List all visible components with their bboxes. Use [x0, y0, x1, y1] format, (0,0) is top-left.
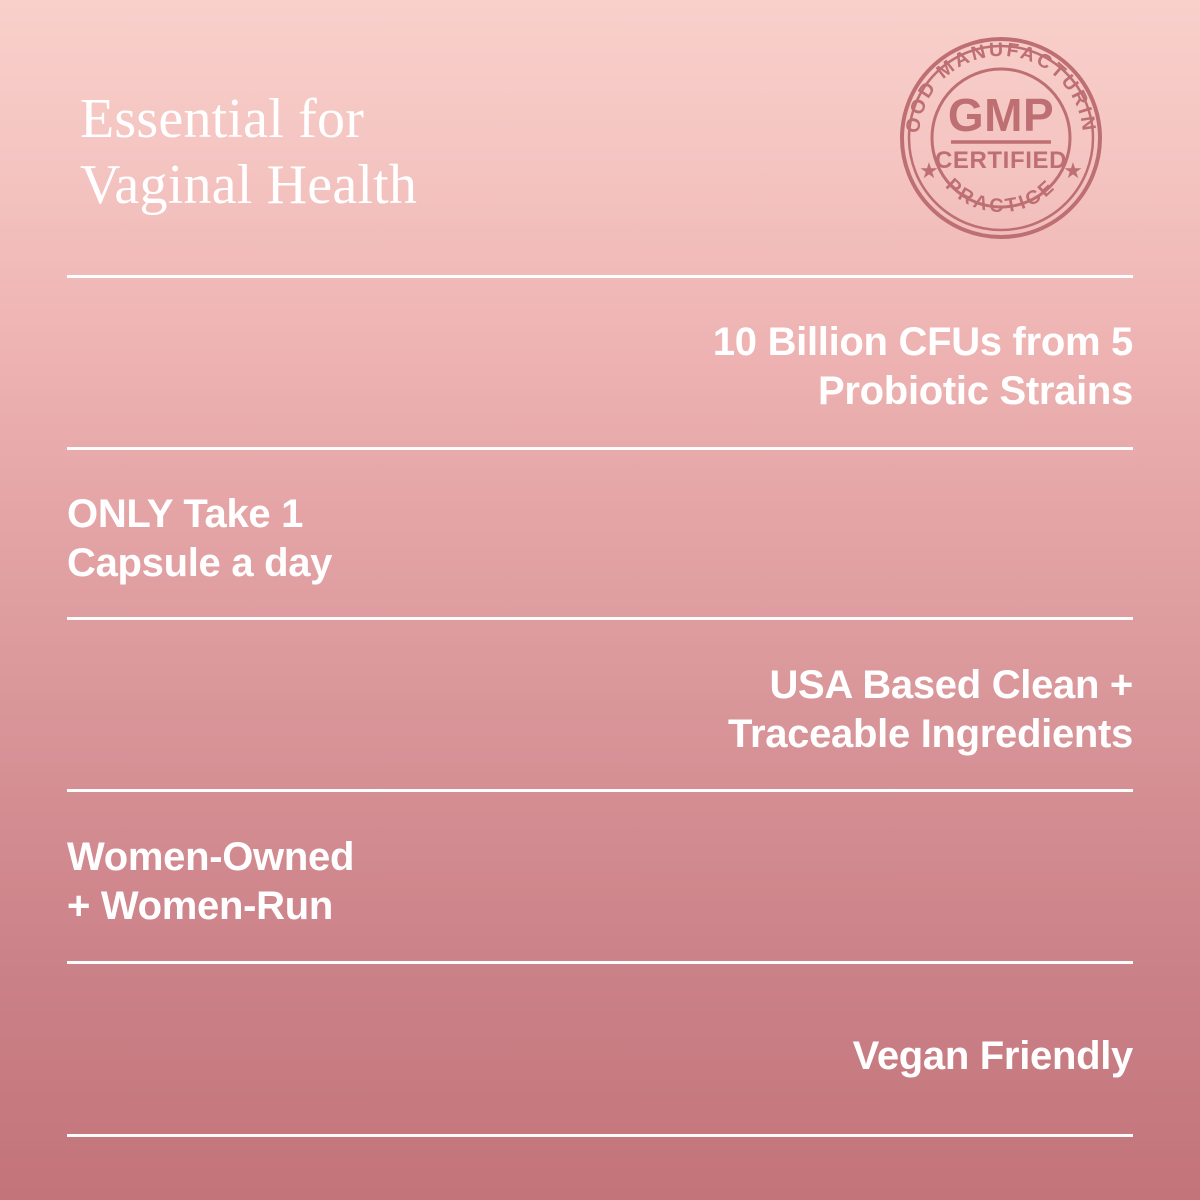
- feature-item-one-capsule: ONLY Take 1 Capsule a day: [67, 490, 1133, 588]
- feature-item-usa-ingredients: USA Based Clean + Traceable Ingredients: [67, 661, 1133, 759]
- product-benefits-poster: Essential for Vaginal Health GOOD MANUFA…: [0, 0, 1200, 1200]
- divider-2: [67, 447, 1133, 450]
- star-icon: ★: [919, 158, 939, 183]
- stamp-gmp-text: GMP: [948, 89, 1054, 141]
- star-icon: ★: [1063, 158, 1083, 183]
- stamp-certified-text: CERTIFIED: [935, 147, 1067, 174]
- stamp-bottom-arc-text: PRACTICE: [941, 174, 1060, 217]
- gmp-certified-badge: GOOD MANUFACTURING PRACTICE GMP CERTIFIE…: [895, 32, 1107, 244]
- page-title: Essential for Vaginal Health: [80, 86, 640, 218]
- feature-item-cfus: 10 Billion CFUs from 5 Probiotic Strains: [67, 318, 1133, 416]
- feature-item-vegan: Vegan Friendly: [67, 1032, 1133, 1081]
- divider-4: [67, 789, 1133, 792]
- divider-6: [67, 1134, 1133, 1137]
- divider-3: [67, 617, 1133, 620]
- divider-1: [67, 275, 1133, 278]
- divider-5: [67, 961, 1133, 964]
- feature-item-women-owned: Women-Owned + Women-Run: [67, 833, 1133, 931]
